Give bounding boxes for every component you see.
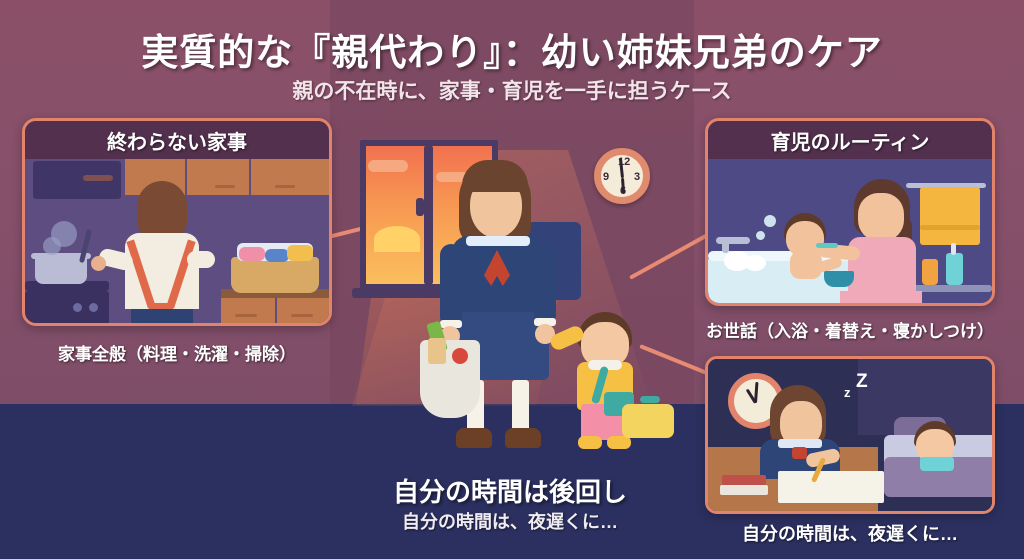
infographic-canvas: 実質的な『親代わり』：幼い姉妹兄弟のケア 親の不在時に、家事・育児を一手に担うケ…: [0, 0, 1024, 559]
center-heading: 自分の時間は後回し: [300, 472, 720, 509]
open-notebook: [778, 471, 834, 503]
soap-bottle-teal: [946, 253, 963, 285]
sibling-duffel-bag: [622, 404, 674, 438]
sock-right: [512, 380, 529, 432]
soap-bubble-1: [764, 215, 776, 227]
soap-bottle-orange: [922, 259, 938, 285]
laundry-cloth-yellow: [287, 245, 313, 261]
sibling-shoe-left: [578, 436, 602, 449]
lower-handle-1: [235, 314, 257, 317]
panel-late-night[interactable]: Z z: [705, 356, 995, 514]
shoe-right: [505, 428, 541, 448]
stove-knob-1: [73, 303, 82, 312]
panel-childcare-caption: お世話（入浴・着替え・寝かしつけ）: [700, 317, 1000, 342]
upper-cabinet-right: [251, 159, 329, 195]
laundry-cloth-blue: [265, 249, 289, 262]
towel-stripe: [920, 225, 980, 230]
panel-childcare[interactable]: 育児のルーティン: [705, 118, 995, 306]
panel-childcare-header: 育児のルーティン: [708, 121, 992, 159]
schoolgirl-arm-right: [534, 244, 556, 326]
shoe-left: [456, 428, 492, 448]
soap-bubble-2: [756, 231, 765, 240]
schoolgirl-arm-left: [440, 244, 462, 328]
panel-housework-caption: 家事全般（料理・洗濯・掃除）: [22, 340, 332, 365]
bath-foam-2: [744, 255, 766, 271]
panel-housework-header: 終わらない家事: [25, 121, 329, 159]
microwave-panel: [83, 175, 113, 181]
mother-pajama-bottom: [840, 291, 922, 303]
stove-knob-2: [89, 303, 98, 312]
bread-loaf: [428, 338, 446, 364]
schoolgirl-bangs: [462, 160, 528, 192]
panel-late-night-caption: 自分の時間は、夜遅くに…: [700, 520, 1000, 546]
page-subtitle: 親の不在時に、家事・育児を一手に担うケース: [0, 75, 1024, 105]
wash-bowl: [824, 271, 854, 287]
bathroom-scene: [708, 159, 992, 303]
sailor-collar: [466, 236, 530, 246]
mother-pajama-top: [848, 237, 916, 295]
clock-numeral-3: 3: [634, 171, 640, 183]
clock-minute-hand-night: [754, 382, 758, 403]
cabinet-handle-2: [275, 185, 295, 188]
lower-cabinet-left: [221, 298, 275, 323]
panel-housework[interactable]: 終わらない家事: [22, 118, 332, 326]
steam-puff-2: [43, 237, 61, 255]
wall-clock-center: 12 3 6 9: [594, 148, 650, 204]
study-ribbon: [792, 447, 807, 459]
duffel-handle: [640, 396, 660, 403]
cook-skirt: [131, 309, 193, 323]
window-handle: [416, 198, 424, 216]
stacked-book-white: [720, 485, 768, 495]
laundry-basket: [231, 257, 319, 293]
cabinet-handle-1: [215, 185, 235, 188]
center-subtext: 自分の時間は、夜遅くに…: [300, 508, 720, 534]
page-title: 実質的な『親代わり』：幼い姉妹兄弟のケア: [0, 22, 1024, 76]
faucet-stem: [722, 241, 729, 253]
hanging-towel: [920, 187, 980, 245]
open-textbook: [830, 471, 884, 503]
window-mullion: [424, 146, 433, 284]
lower-handle-2: [291, 314, 313, 317]
setting-sun: [374, 226, 420, 252]
cook-hand-left: [91, 256, 106, 271]
sleep-z-small: z: [844, 385, 851, 400]
sleeping-child-pajama: [920, 457, 954, 471]
laundry-cloth-pink: [239, 247, 265, 261]
stacked-book-red: [722, 475, 766, 485]
night-study-scene: Z z: [708, 359, 992, 511]
toothbrush: [816, 243, 838, 248]
lower-cabinet-right: [277, 298, 329, 323]
upper-cabinet-mid: [187, 159, 249, 195]
cook-arm-right: [187, 251, 215, 268]
clock-hour-hand-center: [621, 178, 625, 193]
soap-pump: [951, 243, 956, 255]
mother-face: [858, 193, 904, 241]
sleep-z-large: Z: [856, 371, 868, 393]
shelf: [914, 285, 992, 292]
panel-housework-heading: 終わらない家事: [107, 126, 247, 155]
panel-childcare-heading: 育児のルーティン: [771, 126, 930, 155]
clock-numeral-9: 9: [603, 171, 609, 183]
tomato: [452, 348, 468, 364]
kitchen-scene: [25, 159, 329, 323]
window-cloud-1: [368, 160, 408, 172]
